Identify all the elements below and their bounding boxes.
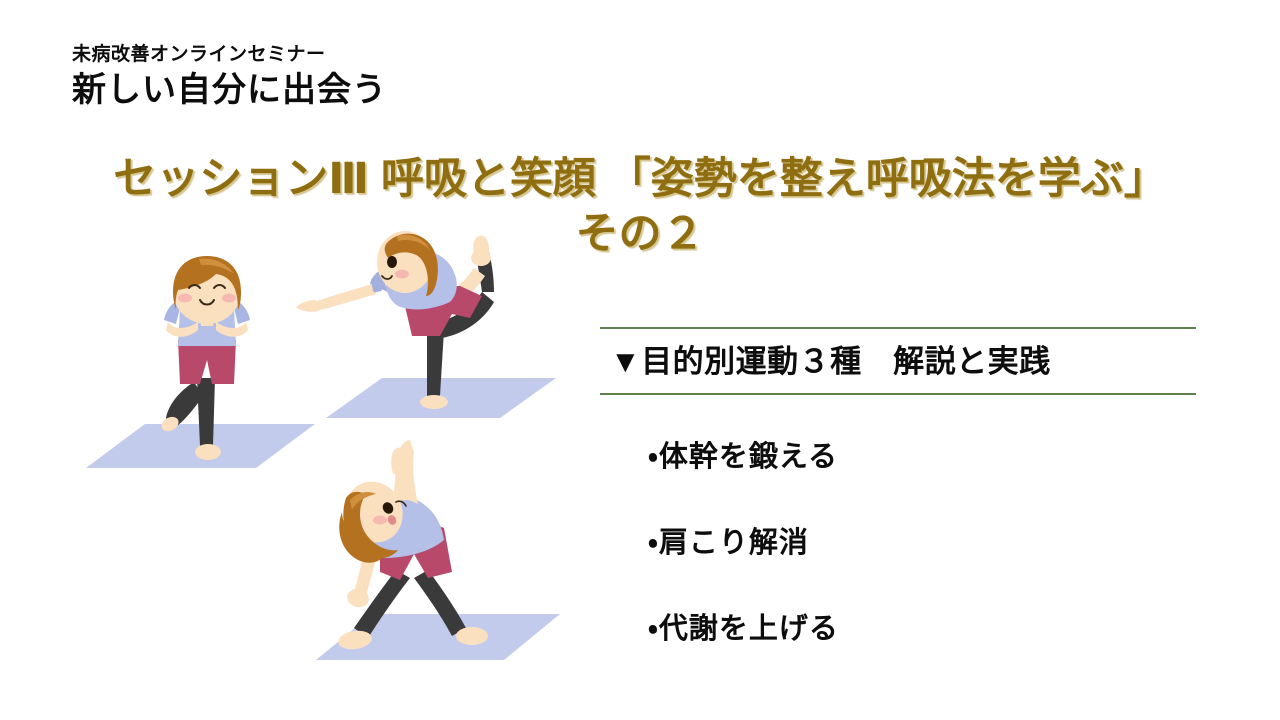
raised-thigh [438,292,494,338]
triangle-pose-figure [316,440,560,660]
shorts [404,286,482,336]
seminar-kicker: 未病改善オンラインセミナー [72,44,672,66]
shorts [178,340,236,384]
neck [200,288,214,298]
upper-shoulder [392,500,420,524]
sleeve-cuff [371,277,383,293]
yoga-mat [326,378,556,418]
left-arm [166,322,198,337]
session-title-block: セッションⅢ 呼吸と笑顔 「姿勢を整え呼吸法を学ぶ」 その２ [0,155,1280,260]
shirt [355,496,444,558]
session-title-line-2: その２ [0,210,1280,259]
front-foot [337,629,373,652]
sleeve [370,268,388,292]
standing-leg [427,330,444,396]
lower-hand [345,587,371,610]
back-foot [456,627,488,645]
lower-arm [354,546,378,596]
mouth [200,300,214,305]
eye [381,500,395,515]
lower-sleeve [355,538,372,560]
raised-foot [159,414,181,434]
neck [371,502,388,516]
eyebrow [396,501,406,506]
hair [343,492,398,558]
standing-foot [420,395,448,409]
mouth [382,276,392,279]
left-eye [189,285,200,288]
seminar-slide: 未病改善オンラインセミナー 新しい自分に出会う セッションⅢ 呼吸と笑顔 「姿勢… [0,0,1280,720]
yoga-mat [316,614,560,660]
session-title-line-1: セッションⅢ 呼吸と笑顔 「姿勢を整え呼吸法を学ぶ」 [0,155,1280,204]
head [173,258,241,324]
section-heading: ▼目的別運動３種 解説と実践 [600,329,1196,393]
cheek [395,270,409,279]
cheek [373,516,387,525]
hair-highlight [350,492,376,510]
right-arm [216,322,248,337]
list-item: ・代謝を上げる [600,605,1196,647]
mouth [386,514,398,527]
standing-leg [197,378,215,446]
right-sleeve [234,300,250,324]
hair [173,256,241,310]
shorts [380,523,452,580]
back-arm [430,268,485,314]
right-eye [214,285,225,288]
list-item: ・肩こり解消 [600,519,1196,561]
right-cheek [222,294,236,303]
tree-pose-figure [86,256,315,468]
seminar-headline: 新しい自分に出会う [72,70,672,111]
raised-hand [391,448,407,474]
front-arm [314,284,376,311]
left-cheek [178,294,192,303]
front-hand [296,300,318,312]
standing-foot [195,444,221,460]
list-item: ・体幹を鍛える [600,433,1196,475]
raised-arm [398,468,414,510]
hair-back [339,512,384,563]
upper-arm [394,440,418,504]
yoga-mat [86,424,315,468]
raised-leg [166,382,203,428]
rule-bottom [600,393,1196,395]
shirt [178,290,236,346]
hair-highlight [199,259,234,274]
content-panel: ▼目的別運動３種 解説と実践 ・体幹を鍛える ・肩こり解消 ・代謝を上げる [600,327,1196,647]
head [335,471,414,552]
raised-arm-shaft [392,468,409,517]
back-leg [414,570,466,636]
prayer-hands [201,294,213,326]
front-leg [354,570,410,638]
left-sleeve [164,300,180,324]
bullet-list: ・体幹を鍛える ・肩こり解消 ・代謝を上げる [600,433,1196,647]
header-block: 未病改善オンラインセミナー 新しい自分に出会う [72,44,672,111]
